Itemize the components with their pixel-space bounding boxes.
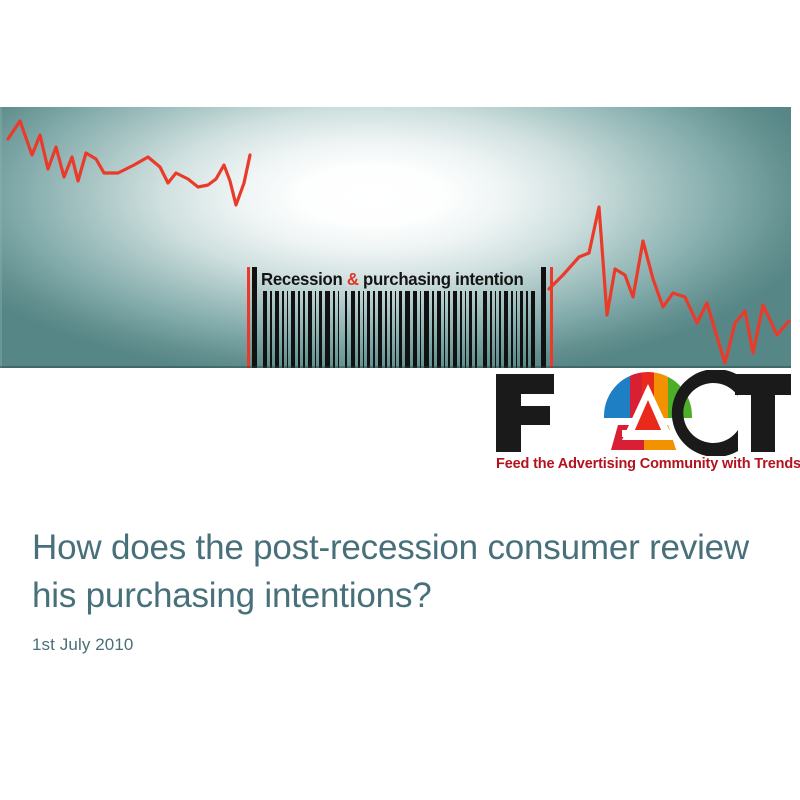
title-block: How does the post-recession consumer rev… <box>32 524 762 655</box>
fact-logo: Feed the Advertising Community with Tren… <box>492 370 792 480</box>
logo-letter-c <box>672 370 738 456</box>
barcode-left-red-guard <box>247 267 250 368</box>
left-trend-line-chart <box>0 107 260 368</box>
barcode-bars <box>263 291 539 368</box>
barcode-right-guard-bar <box>541 267 546 368</box>
right-trend-line-chart <box>545 107 791 368</box>
barcode-caption: Recession & purchasing intention <box>261 267 541 293</box>
page-title: How does the post-recession consumer rev… <box>32 524 762 621</box>
barcode-caption-ampersand: & <box>347 269 359 289</box>
hero-banner-image: Recession & purchasing intention <box>0 107 791 368</box>
barcode-right-red-guard <box>550 267 553 368</box>
banner-bottom-edge <box>0 366 791 368</box>
barcode-graphic: Recession & purchasing intention <box>247 267 553 368</box>
barcode-left-guard-bar <box>252 267 257 368</box>
page-date: 1st July 2010 <box>32 635 762 655</box>
barcode-caption-after: purchasing intention <box>359 269 524 289</box>
fact-logo-mark <box>492 370 792 456</box>
logo-letter-t <box>735 374 791 452</box>
fact-logo-tagline: Feed the Advertising Community with Tren… <box>496 456 792 472</box>
barcode-caption-before: Recession <box>261 269 347 289</box>
logo-letter-f <box>496 374 554 452</box>
